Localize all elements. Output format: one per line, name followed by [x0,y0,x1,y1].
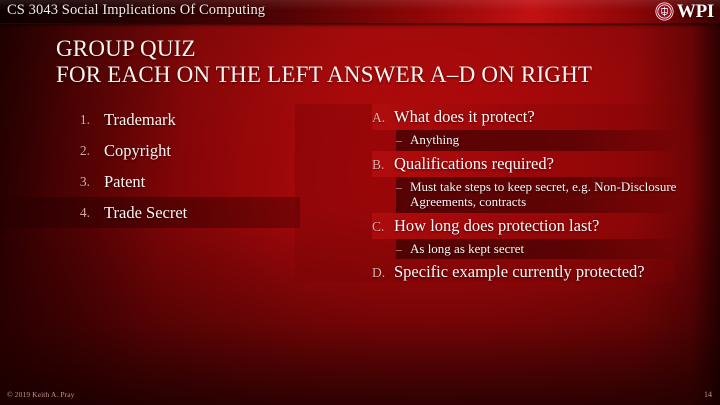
left-list-item-number: 4. [52,205,90,221]
left-list-item-number: 2. [52,143,90,159]
left-list-item[interactable]: 3.Patent [0,166,300,197]
left-list-item-label: Trade Secret [104,203,187,223]
page-title: GROUP QUIZ FOR EACH ON THE LEFT ANSWER A… [56,36,676,87]
question-text: What does it protect? [394,107,535,126]
qa-block: A.What does it protect?–Anything [372,104,682,151]
question-letter: B. [372,154,394,173]
right-list: A.What does it protect?–AnythingB.Qualif… [372,104,682,285]
qa-block: B.Qualifications required?–Must take ste… [372,151,682,213]
left-list-item-label: Copyright [104,141,171,161]
left-list: 1.Trademark2.Copyright3.Patent4.Trade Se… [0,104,300,228]
question-text: How long does protection last? [394,216,599,235]
wpi-wordmark: WPI [677,1,714,22]
left-list-item[interactable]: 2.Copyright [0,135,300,166]
answer-text: Anything [410,132,459,148]
question-row[interactable]: D.Specific example currently protected? [372,259,682,285]
question-letter: A. [372,107,394,126]
answer-dash-icon: – [396,132,410,147]
answer-dash-icon: – [396,179,410,194]
question-row[interactable]: A.What does it protect? [372,104,682,130]
question-row[interactable]: B.Qualifications required? [372,151,682,177]
left-list-item-number: 1. [52,112,90,128]
answer-text: As long as kept secret [410,241,524,257]
page-title-line-2: FOR EACH ON THE LEFT ANSWER A–D ON RIGHT [56,62,676,88]
left-list-item-label: Patent [104,172,145,192]
left-list-item[interactable]: 1.Trademark [0,104,300,135]
course-title: CS 3043 Social Implications Of Computing [7,2,265,19]
question-row[interactable]: C.How long does protection last? [372,213,682,239]
qa-block: D.Specific example currently protected? [372,259,682,285]
footer-page-number: 14 [704,390,712,399]
page-title-line-1: GROUP QUIZ [56,36,676,62]
answer-text: Must take steps to keep secret, e.g. Non… [410,179,682,210]
wpi-logo: WPI [655,1,714,22]
question-letter: D. [372,262,394,281]
question-text: Qualifications required? [394,154,554,173]
left-list-item-label: Trademark [104,110,176,130]
slide-canvas: CS 3043 Social Implications Of Computing… [0,0,720,405]
header-bar: CS 3043 Social Implications Of Computing… [0,0,720,24]
wpi-seal-icon [655,2,674,21]
answer-row: –As long as kept secret [396,239,682,260]
answer-row: –Must take steps to keep secret, e.g. No… [396,177,682,213]
left-list-item[interactable]: 4.Trade Secret [0,197,300,228]
question-text: Specific example currently protected? [394,262,645,281]
footer-copyright: © 2019 Keith A. Pray [7,390,75,399]
qa-block: C.How long does protection last?–As long… [372,213,682,260]
left-list-item-number: 3. [52,174,90,190]
question-letter: C. [372,216,394,235]
answer-row: –Anything [396,130,682,151]
answer-dash-icon: – [396,241,410,256]
